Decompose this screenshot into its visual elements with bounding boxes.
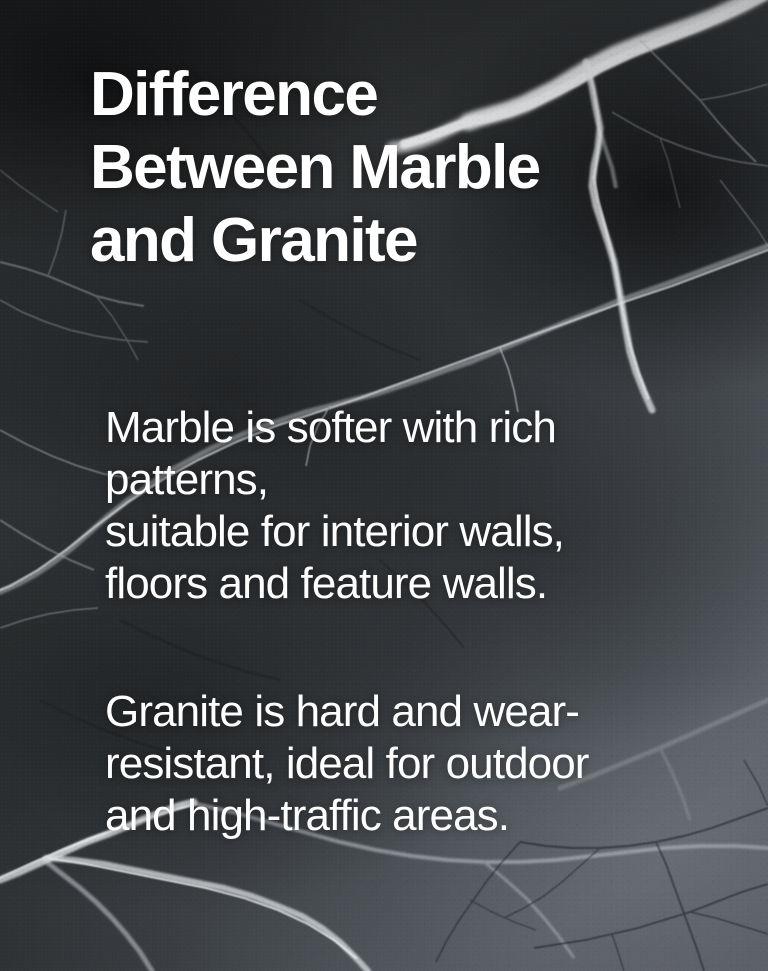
- paragraph-marble: Marble is softer with rich patterns, sui…: [105, 402, 705, 610]
- poster-content: Difference Between Marble and Granite Ma…: [0, 0, 768, 971]
- paragraph-granite: Granite is hard and wear- resistant, ide…: [105, 686, 705, 842]
- poster-headline: Difference Between Marble and Granite: [90, 58, 690, 277]
- marble-granite-poster: Difference Between Marble and Granite Ma…: [0, 0, 768, 971]
